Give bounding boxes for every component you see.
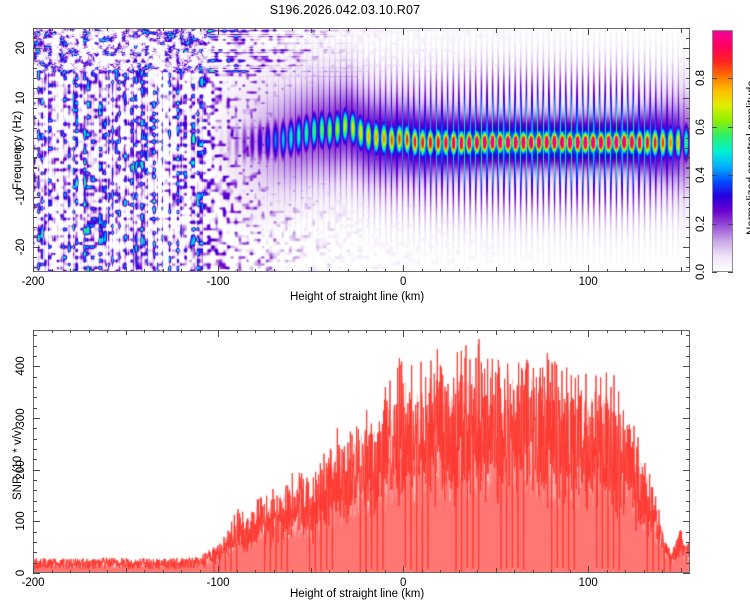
xtick-minor-top: [348, 330, 349, 333]
ytick-minor: [33, 356, 37, 357]
ytick-major: [33, 418, 40, 419]
ytick-major: [33, 521, 40, 522]
ytick-minor-right: [686, 335, 690, 336]
xtick-major-top: [403, 330, 404, 337]
ytick-minor-right: [686, 428, 690, 429]
xtick-minor: [52, 570, 53, 573]
ytick-minor: [33, 207, 37, 208]
xtick-minor-top: [533, 28, 534, 31]
xtick-major-top: [588, 330, 589, 337]
xtick-major-top: [403, 28, 404, 35]
ytick-minor: [33, 532, 37, 533]
xtick-minor-top: [126, 28, 127, 33]
ytick-minor: [33, 68, 37, 69]
ytick-minor-right: [686, 552, 690, 553]
xtick-minor-top: [144, 28, 145, 31]
ytick-minor: [33, 335, 37, 336]
ytick-minor: [33, 257, 37, 258]
xtick-minor-top: [496, 28, 497, 33]
xtick-minor: [200, 570, 201, 573]
snr-ylabel: SNR (10 * v/v): [12, 427, 24, 501]
xtick-minor-top: [181, 330, 182, 333]
ytick-major-right: [683, 470, 690, 471]
xtick-minor: [681, 568, 682, 573]
xtick-minor: [107, 570, 108, 573]
spectrogram-xlabel: Height of straight line (km): [290, 291, 424, 303]
ytick-major-right: [683, 197, 690, 198]
xticklabel: -200: [21, 276, 44, 288]
xtick-minor: [163, 570, 164, 573]
xtick-major-top: [588, 28, 589, 35]
xtick-minor-top: [255, 28, 256, 31]
ytick-minor-right: [686, 217, 690, 218]
xtick-major: [218, 566, 219, 573]
ytick-minor-right: [686, 187, 690, 188]
ytick-minor: [33, 511, 37, 512]
xtick-minor-top: [533, 330, 534, 333]
xtick-minor-top: [200, 28, 201, 31]
ytick-minor-right: [686, 38, 690, 39]
xtick-minor: [144, 269, 145, 272]
xtick-minor-top: [681, 28, 682, 33]
xtick-minor-top: [52, 28, 53, 31]
xtick-minor-top: [181, 28, 182, 31]
yticklabel: 10: [15, 91, 27, 104]
xtick-minor: [70, 269, 71, 272]
xtick-major: [403, 566, 404, 573]
xtick-minor-top: [440, 330, 441, 333]
xtick-minor: [533, 269, 534, 272]
colorbar-tick: [712, 175, 717, 176]
xtick-minor: [329, 269, 330, 272]
xtick-minor: [385, 570, 386, 573]
colorbar-tick-right: [728, 224, 733, 225]
xtick-minor: [514, 269, 515, 272]
ytick-minor-right: [686, 501, 690, 502]
xtick-minor-top: [255, 330, 256, 333]
xtick-minor-top: [163, 330, 164, 333]
xtick-minor-top: [496, 330, 497, 335]
xtick-minor: [440, 570, 441, 573]
colorbar-tick-right: [728, 127, 733, 128]
ytick-major: [33, 197, 40, 198]
xtick-minor: [348, 570, 349, 573]
xtick-minor-top: [644, 330, 645, 333]
xtick-minor: [274, 570, 275, 573]
ytick-minor-right: [686, 377, 690, 378]
xtick-minor: [681, 267, 682, 272]
xtick-minor-top: [70, 28, 71, 31]
yticklabel: 20: [15, 42, 27, 55]
ytick-minor: [33, 217, 37, 218]
ytick-minor-right: [686, 511, 690, 512]
ytick-minor: [33, 28, 37, 29]
ytick-minor: [33, 187, 37, 188]
ytick-minor-right: [686, 346, 690, 347]
xticklabel: -100: [207, 577, 230, 589]
colorbar-tick-right: [728, 272, 733, 273]
xtick-minor-top: [662, 330, 663, 333]
yticklabel: -20: [15, 239, 27, 256]
colorbar: [712, 30, 733, 272]
xtick-minor: [625, 269, 626, 272]
xtick-minor-top: [681, 330, 682, 335]
snr-panel: [33, 330, 690, 573]
xtick-minor-top: [89, 28, 90, 31]
xtick-minor-top: [422, 330, 423, 333]
xtick-major: [588, 265, 589, 272]
xtick-minor: [52, 269, 53, 272]
spectrogram-panel: [33, 28, 690, 272]
xtick-minor-top: [514, 330, 515, 333]
xtick-minor: [107, 269, 108, 272]
xtick-minor-top: [570, 330, 571, 333]
xtick-minor-top: [274, 330, 275, 333]
xtick-minor-top: [644, 28, 645, 31]
ytick-minor: [33, 501, 37, 502]
xtick-minor: [422, 269, 423, 272]
xtick-minor: [496, 568, 497, 573]
xtick-minor: [163, 269, 164, 272]
ytick-minor: [33, 237, 37, 238]
xtick-minor: [366, 570, 367, 573]
xtick-minor-top: [625, 330, 626, 333]
xtick-minor: [570, 570, 571, 573]
ytick-minor-right: [686, 257, 690, 258]
xtick-minor: [459, 269, 460, 272]
colorbar-tick: [712, 127, 717, 128]
ytick-minor: [33, 267, 37, 268]
ytick-minor: [33, 377, 37, 378]
figure-root: S196.2026.042.03.10.R07 -200-10001002010…: [0, 0, 750, 600]
ytick-minor: [33, 408, 37, 409]
xtick-minor-top: [200, 330, 201, 333]
ytick-minor: [33, 58, 37, 59]
snr-plot-area: [34, 331, 689, 572]
ytick-minor-right: [686, 88, 690, 89]
xtick-minor-top: [551, 330, 552, 333]
xtick-major-top: [218, 28, 219, 35]
xtick-major: [403, 265, 404, 272]
ytick-minor-right: [686, 439, 690, 440]
colorbar-tick-right: [728, 175, 733, 176]
ytick-minor-right: [686, 397, 690, 398]
ytick-minor-right: [686, 68, 690, 69]
xtick-minor: [89, 269, 90, 272]
ytick-major-right: [683, 48, 690, 49]
ytick-major: [33, 98, 40, 99]
xtick-minor: [292, 570, 293, 573]
colorbar-ticklabel: 0.2: [695, 216, 707, 232]
yticklabel: 0: [15, 570, 27, 576]
xtick-minor-top: [477, 28, 478, 31]
xtick-minor-top: [107, 330, 108, 333]
xtick-minor-top: [477, 330, 478, 333]
ytick-minor-right: [686, 108, 690, 109]
xtick-minor: [329, 570, 330, 573]
colorbar-ticklabel: 0.0: [695, 264, 707, 280]
ytick-minor: [33, 490, 37, 491]
ytick-minor: [33, 227, 37, 228]
xticklabel: 100: [579, 276, 598, 288]
xtick-minor-top: [459, 28, 460, 31]
xtick-minor-top: [459, 330, 460, 333]
ytick-minor-right: [686, 449, 690, 450]
xtick-minor: [237, 269, 238, 272]
ytick-minor: [33, 552, 37, 553]
ytick-minor-right: [686, 227, 690, 228]
xtick-minor-top: [274, 28, 275, 31]
ytick-minor: [33, 167, 37, 168]
xtick-minor-top: [625, 28, 626, 31]
ytick-major-right: [683, 366, 690, 367]
ytick-minor-right: [686, 207, 690, 208]
ytick-minor-right: [686, 237, 690, 238]
ytick-minor: [33, 177, 37, 178]
ytick-major: [33, 366, 40, 367]
yticklabel: -10: [15, 189, 27, 206]
xtick-minor-top: [329, 28, 330, 31]
ytick-minor-right: [686, 356, 690, 357]
xtick-minor-top: [366, 28, 367, 31]
xtick-minor: [70, 570, 71, 573]
ytick-minor-right: [686, 118, 690, 119]
snr-xlabel: Height of straight line (km): [290, 588, 424, 600]
xtick-minor: [274, 269, 275, 272]
xtick-major: [588, 566, 589, 573]
xtick-minor: [440, 269, 441, 272]
colorbar-tick: [712, 78, 717, 79]
ytick-minor: [33, 88, 37, 89]
xtick-minor: [89, 570, 90, 573]
ytick-major-right: [683, 148, 690, 149]
ytick-minor: [33, 449, 37, 450]
xtick-minor-top: [237, 330, 238, 333]
xtick-minor-top: [551, 28, 552, 31]
xtick-minor-top: [570, 28, 571, 31]
ytick-minor: [33, 38, 37, 39]
xtick-minor: [144, 570, 145, 573]
ytick-minor: [33, 542, 37, 543]
ytick-major-right: [683, 573, 690, 574]
ytick-minor: [33, 428, 37, 429]
ytick-minor: [33, 346, 37, 347]
yticklabel: 400: [15, 357, 27, 376]
spectrogram-ylabel: Frequency (Hz): [12, 111, 24, 190]
xtick-minor-top: [237, 28, 238, 31]
xtick-minor-top: [514, 28, 515, 31]
xtick-minor: [477, 269, 478, 272]
xtick-minor-top: [107, 28, 108, 31]
xtick-minor: [644, 269, 645, 272]
ytick-minor: [33, 118, 37, 119]
colorbar-ticklabel: 0.4: [695, 167, 707, 183]
xtick-minor: [514, 570, 515, 573]
ytick-minor-right: [686, 177, 690, 178]
xtick-minor: [496, 267, 497, 272]
xtick-minor: [477, 570, 478, 573]
xtick-minor: [551, 570, 552, 573]
xtick-minor: [255, 570, 256, 573]
xtick-major-top: [218, 330, 219, 337]
xtick-minor: [385, 269, 386, 272]
ytick-minor-right: [686, 532, 690, 533]
ytick-minor: [33, 78, 37, 79]
xtick-minor-top: [385, 28, 386, 31]
ytick-minor-right: [686, 78, 690, 79]
xtick-minor-top: [662, 28, 663, 31]
ytick-minor: [33, 387, 37, 388]
colorbar-tick-right: [728, 78, 733, 79]
xtick-minor-top: [422, 28, 423, 31]
page-title: S196.2026.042.03.10.R07: [0, 3, 690, 17]
xtick-minor: [644, 570, 645, 573]
ytick-minor-right: [686, 128, 690, 129]
xtick-minor-top: [311, 330, 312, 335]
ytick-minor: [33, 563, 37, 564]
ytick-minor: [33, 459, 37, 460]
xtick-minor: [126, 267, 127, 272]
ytick-minor-right: [686, 267, 690, 268]
xtick-minor-top: [348, 28, 349, 31]
xtick-major: [218, 265, 219, 272]
xtick-minor-top: [144, 330, 145, 333]
xtick-minor-top: [311, 28, 312, 33]
ytick-major: [33, 247, 40, 248]
xtick-minor-top: [607, 28, 608, 31]
xtick-minor: [126, 568, 127, 573]
spectrogram-plot-area: [34, 29, 689, 271]
xtick-minor: [366, 269, 367, 272]
colorbar-ticklabel: 0.6: [695, 119, 707, 135]
xtick-minor: [625, 570, 626, 573]
xtick-minor-top: [440, 28, 441, 31]
xticklabel: 0: [400, 276, 406, 288]
ytick-minor-right: [686, 459, 690, 460]
xtick-minor-top: [366, 330, 367, 333]
ytick-major: [33, 148, 40, 149]
xtick-minor: [607, 269, 608, 272]
ytick-minor-right: [686, 387, 690, 388]
yticklabel: 100: [15, 512, 27, 531]
colorbar-tick: [712, 272, 717, 273]
xtick-minor-top: [89, 330, 90, 333]
ytick-major: [33, 573, 40, 574]
ytick-minor-right: [686, 28, 690, 29]
xtick-minor: [200, 269, 201, 272]
ytick-minor: [33, 157, 37, 158]
xtick-minor: [292, 269, 293, 272]
ytick-minor-right: [686, 490, 690, 491]
ytick-minor: [33, 138, 37, 139]
xtick-minor: [533, 570, 534, 573]
ytick-minor-right: [686, 542, 690, 543]
xtick-minor-top: [329, 330, 330, 333]
xtick-minor: [570, 269, 571, 272]
xtick-minor-top: [163, 28, 164, 31]
xtick-major: [33, 566, 34, 573]
xticklabel: -100: [207, 276, 230, 288]
ytick-minor-right: [686, 563, 690, 564]
colorbar-label: Normalized spectral amplitude: [746, 80, 750, 235]
xtick-minor: [551, 269, 552, 272]
xtick-minor: [607, 570, 608, 573]
xtick-minor: [662, 269, 663, 272]
ytick-major-right: [683, 98, 690, 99]
yticklabel: 300: [15, 408, 27, 427]
ytick-minor: [33, 128, 37, 129]
colorbar-tick: [712, 224, 717, 225]
ytick-minor-right: [686, 408, 690, 409]
xtick-minor-top: [70, 330, 71, 333]
xtick-minor: [662, 570, 663, 573]
ytick-minor-right: [686, 138, 690, 139]
xtick-minor: [237, 570, 238, 573]
xtick-minor-top: [292, 330, 293, 333]
ytick-major: [33, 48, 40, 49]
ytick-major: [33, 470, 40, 471]
xtick-minor-top: [292, 28, 293, 31]
xtick-minor: [255, 269, 256, 272]
xtick-minor: [311, 568, 312, 573]
xtick-minor: [459, 570, 460, 573]
xtick-minor-top: [607, 330, 608, 333]
ytick-minor: [33, 439, 37, 440]
ytick-major-right: [683, 521, 690, 522]
xtick-minor: [311, 267, 312, 272]
xtick-minor: [348, 269, 349, 272]
ytick-minor: [33, 108, 37, 109]
ytick-minor: [33, 480, 37, 481]
ytick-minor-right: [686, 157, 690, 158]
xtick-minor: [181, 269, 182, 272]
ytick-minor-right: [686, 58, 690, 59]
ytick-minor-right: [686, 480, 690, 481]
ytick-minor-right: [686, 167, 690, 168]
xtick-minor-top: [52, 330, 53, 333]
spectrogram-image: [34, 29, 689, 271]
ytick-major-right: [683, 247, 690, 248]
xticklabel: -200: [21, 577, 44, 589]
xtick-minor: [422, 570, 423, 573]
ytick-minor: [33, 397, 37, 398]
xtick-minor: [181, 570, 182, 573]
xtick-minor-top: [126, 330, 127, 335]
xtick-minor-top: [385, 330, 386, 333]
xticklabel: 100: [579, 577, 598, 589]
colorbar-ticklabel: 0.8: [695, 70, 707, 86]
snr-trace: [34, 331, 689, 572]
ytick-major-right: [683, 418, 690, 419]
